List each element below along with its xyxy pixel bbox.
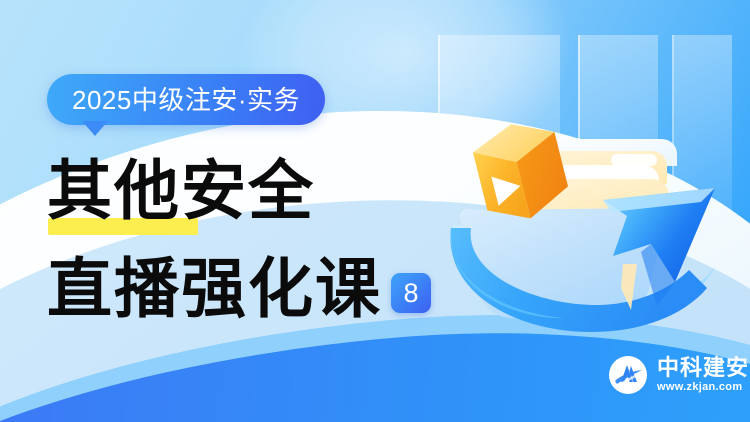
zkjan-circle-logo-icon xyxy=(608,355,648,395)
episode-number-badge: 8 xyxy=(391,273,431,313)
logo-url: www.zkjan.com xyxy=(657,381,749,394)
title-line-2: 直播强化课 xyxy=(47,250,382,328)
badge-pill: 2025中级注安·实务 xyxy=(47,74,325,125)
title-line-1: 其他安全 xyxy=(47,152,467,230)
logo-name: 中科建安 xyxy=(657,357,749,381)
page-title: 其他安全 直播强化课 8 xyxy=(47,152,467,328)
brand-logo: 中科建安 www.zkjan.com xyxy=(608,355,749,395)
logo-text-block: 中科建安 www.zkjan.com xyxy=(657,357,749,394)
title-line-2-row: 直播强化课 8 xyxy=(47,250,467,328)
badge-label: 2025中级注安·实务 xyxy=(72,87,300,113)
course-subject-badge: 2025中级注安·实务 xyxy=(47,74,325,125)
course-banner: 2025中级注安·实务 其他安全 直播强化课 8 中科建安 www.zkjan xyxy=(0,0,750,422)
badge-tail xyxy=(82,121,108,136)
title-line-1-row: 其他安全 xyxy=(47,152,467,232)
